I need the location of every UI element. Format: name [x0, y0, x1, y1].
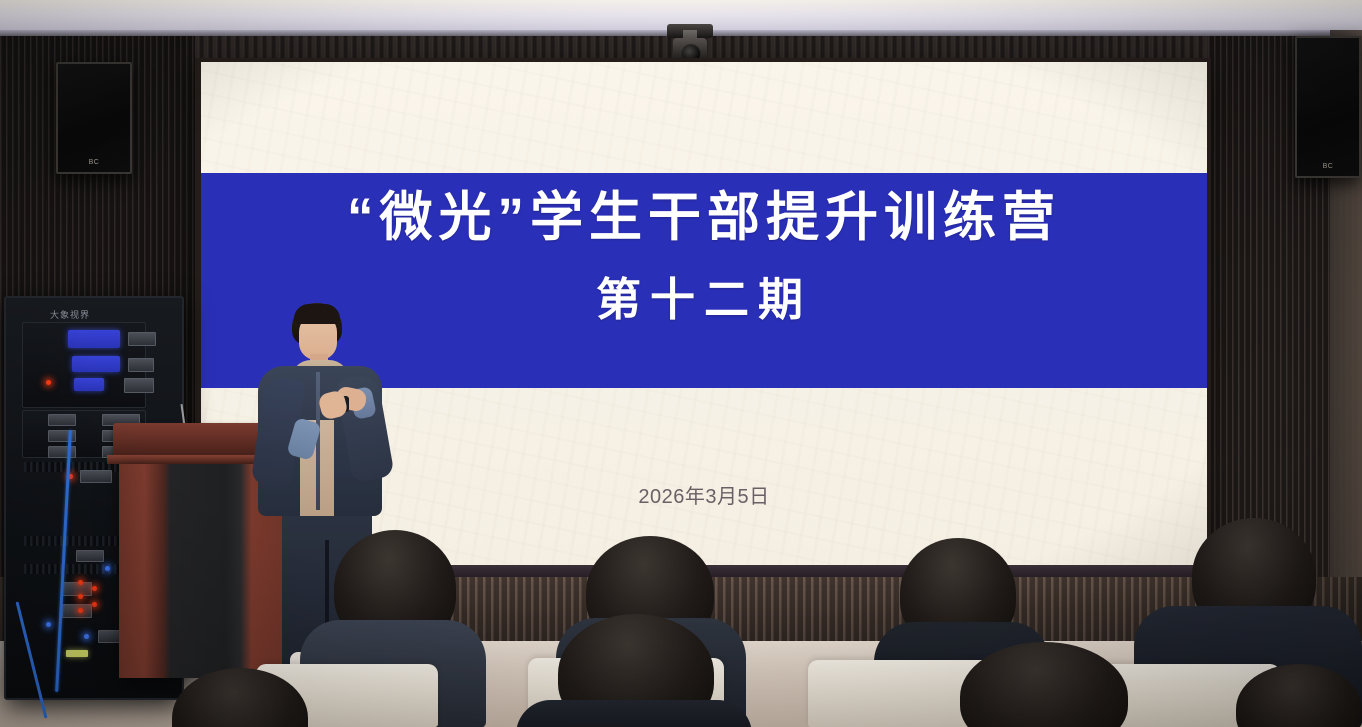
rack-button-1[interactable] [128, 332, 156, 346]
rack-power-led [46, 380, 51, 385]
rack-net-led [46, 622, 51, 627]
rack-alarm-led-4 [92, 586, 97, 591]
rack-alarm-led-2 [78, 594, 83, 599]
rack-display-2 [72, 356, 120, 372]
rack-button-13[interactable] [62, 604, 92, 618]
audience-shoulders-front-2 [516, 700, 752, 727]
lecture-hall-scene: BC BC “微光”学生干部提升训练营 第十二期 2026年3月5日 大象视界 [0, 0, 1362, 727]
rack-button-10[interactable] [80, 470, 112, 483]
slide-title: “微光”学生干部提升训练营 [201, 191, 1207, 244]
rack-brand-label: 大象视界 [50, 308, 90, 321]
slide-blue-banner: “微光”学生干部提升训练营 第十二期 [201, 173, 1207, 388]
rack-display-1 [68, 330, 120, 348]
rack-display-3 [74, 378, 104, 391]
rack-alarm-led-3 [78, 608, 83, 613]
rack-button-11[interactable] [76, 550, 104, 562]
rack-button-2[interactable] [128, 358, 154, 372]
rack-button-12[interactable] [62, 582, 92, 596]
rack-link-led [105, 566, 110, 571]
rack-button-4[interactable] [48, 414, 76, 426]
right-wall-speaker: BC [1295, 36, 1361, 178]
rack-net-led-2 [84, 634, 89, 639]
rack-alarm-led-1 [78, 580, 83, 585]
slide-subtitle: 第十二期 [201, 277, 1207, 322]
rack-button-6[interactable] [48, 430, 76, 442]
rack-button-8[interactable] [48, 446, 76, 458]
presenter-hair-front [294, 304, 340, 324]
speaker-brand-label: BC [1323, 163, 1334, 170]
rack-alarm-led-5 [92, 602, 97, 607]
rack-button-3[interactable] [124, 378, 154, 393]
left-wall-speaker: BC [56, 62, 132, 174]
rack-amber-indicator [66, 650, 88, 657]
speaker-brand-label: BC [89, 159, 100, 166]
